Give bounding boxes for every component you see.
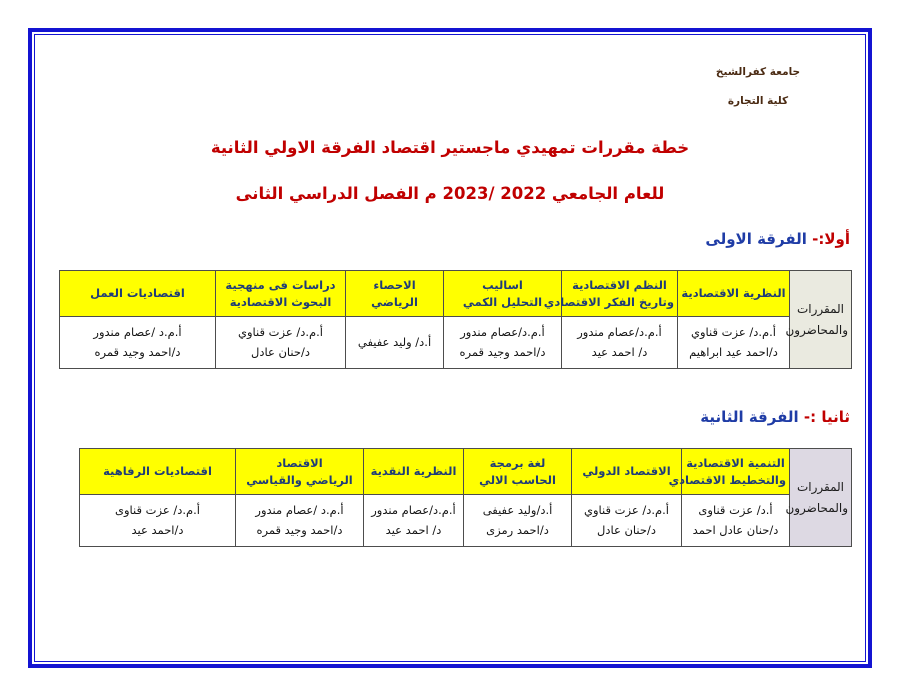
lecturer-cell: أ.د/وليد عفيفى د/احمد رمزى [464,495,572,547]
document-title: خطة مقررات تمهيدي ماجستير اقتصاد الفرقة … [40,138,860,157]
course-header-cell: النظم الاقتصادية وتاريخ الفكر الاقتصادي [562,271,678,317]
row-header-line2: والمحاضرون [793,320,848,340]
lecturer-cell: أ.م.د /عصام مندور د/احمد وجيد قمره [60,317,216,369]
course-header-cell: لغة برمجة الحاسب الالي [464,449,572,495]
row-header-line1: المقررات [793,477,848,497]
schedule-table-year-1: المقررات والمحاضرون النظرية الاقتصادية ا… [59,270,852,369]
lecturer-cell: أ.م.د /عصام مندور د/احمد وجيد قمره [236,495,364,547]
course-header-cell: اقتصاديات الرفاهية [80,449,236,495]
table-row-lecturers: أ.د/ عزت قناوى د/حنان عادل احمد أ.م.د/ ع… [80,495,852,547]
lecturer-cell: أ.م.د/ عزت قناوى د/احمد عيد [80,495,236,547]
row-header-line1: المقررات [793,299,848,319]
lecturer-cell: أ.د/ وليد عفيفي [346,317,444,369]
document-page: جامعة كفرالشيخ كلية التجارة خطة مقررات ت… [0,0,900,695]
document-subtitle: للعام الجامعي 2022 /2023 م الفصل الدراسي… [40,184,860,203]
lecturer-cell: أ.م.د/عصام مندور د/ احمد عيد [364,495,464,547]
section-ordinal-1: أولا:- [812,230,850,248]
course-header-cell: النظرية النقدية [364,449,464,495]
schedule-table-year-2: المقررات والمحاضرون التنمية الاقتصادية و… [79,448,852,547]
course-header-cell: دراسات فى منهجية البحوث الاقتصادية [216,271,346,317]
faculty-name: كلية التجارة [668,95,848,108]
section-group-1: الفرقة الاولى [705,230,806,248]
row-header-label-1: المقررات والمحاضرون [790,271,852,369]
page-content: جامعة كفرالشيخ كلية التجارة خطة مقررات ت… [40,40,860,656]
section-heading-2: ثانيا :- الفرقة الثانية [700,408,850,426]
table-row-course-names: المقررات والمحاضرون النظرية الاقتصادية ا… [60,271,852,317]
row-header-line2: والمحاضرون [793,498,848,518]
lecturer-cell: أ.م.د/عصام مندور د/ احمد عيد [562,317,678,369]
course-header-cell: التنمية الاقتصادية والتخطيط الاقتصادي [682,449,790,495]
course-header-cell: الاقتصاد الرياضي والقياسي [236,449,364,495]
lecturer-cell: أ.م.د/ عزت قناوي د/حنان عادل [216,317,346,369]
course-header-cell: النظرية الاقتصادية [678,271,790,317]
course-header-cell: الاقتصاد الدولي [572,449,682,495]
table-row-lecturers: أ.م.د/ عزت قناوي د/احمد عيد ابراهيم أ.م.… [60,317,852,369]
lecturer-cell: أ.م.د/ عزت قناوي د/احمد عيد ابراهيم [678,317,790,369]
section-heading-1: أولا:- الفرقة الاولى [705,230,850,248]
lecturer-cell: أ.د/ عزت قناوى د/حنان عادل احمد [682,495,790,547]
section-group-2: الفرقة الثانية [700,408,798,426]
course-header-cell: الاحصاء الرياضي [346,271,444,317]
university-name: جامعة كفرالشيخ [668,66,848,79]
row-header-label-2: المقررات والمحاضرون [790,449,852,547]
lecturer-cell: أ.م.د/عصام مندور د/احمد وجيد قمره [444,317,562,369]
lecturer-cell: أ.م.د/ عزت قناوي د/حنان عادل [572,495,682,547]
section-ordinal-2: ثانيا :- [804,408,850,426]
table-row-course-names: المقررات والمحاضرون التنمية الاقتصادية و… [80,449,852,495]
course-header-cell: اقتصاديات العمل [60,271,216,317]
institution-header: جامعة كفرالشيخ كلية التجارة [668,66,848,107]
